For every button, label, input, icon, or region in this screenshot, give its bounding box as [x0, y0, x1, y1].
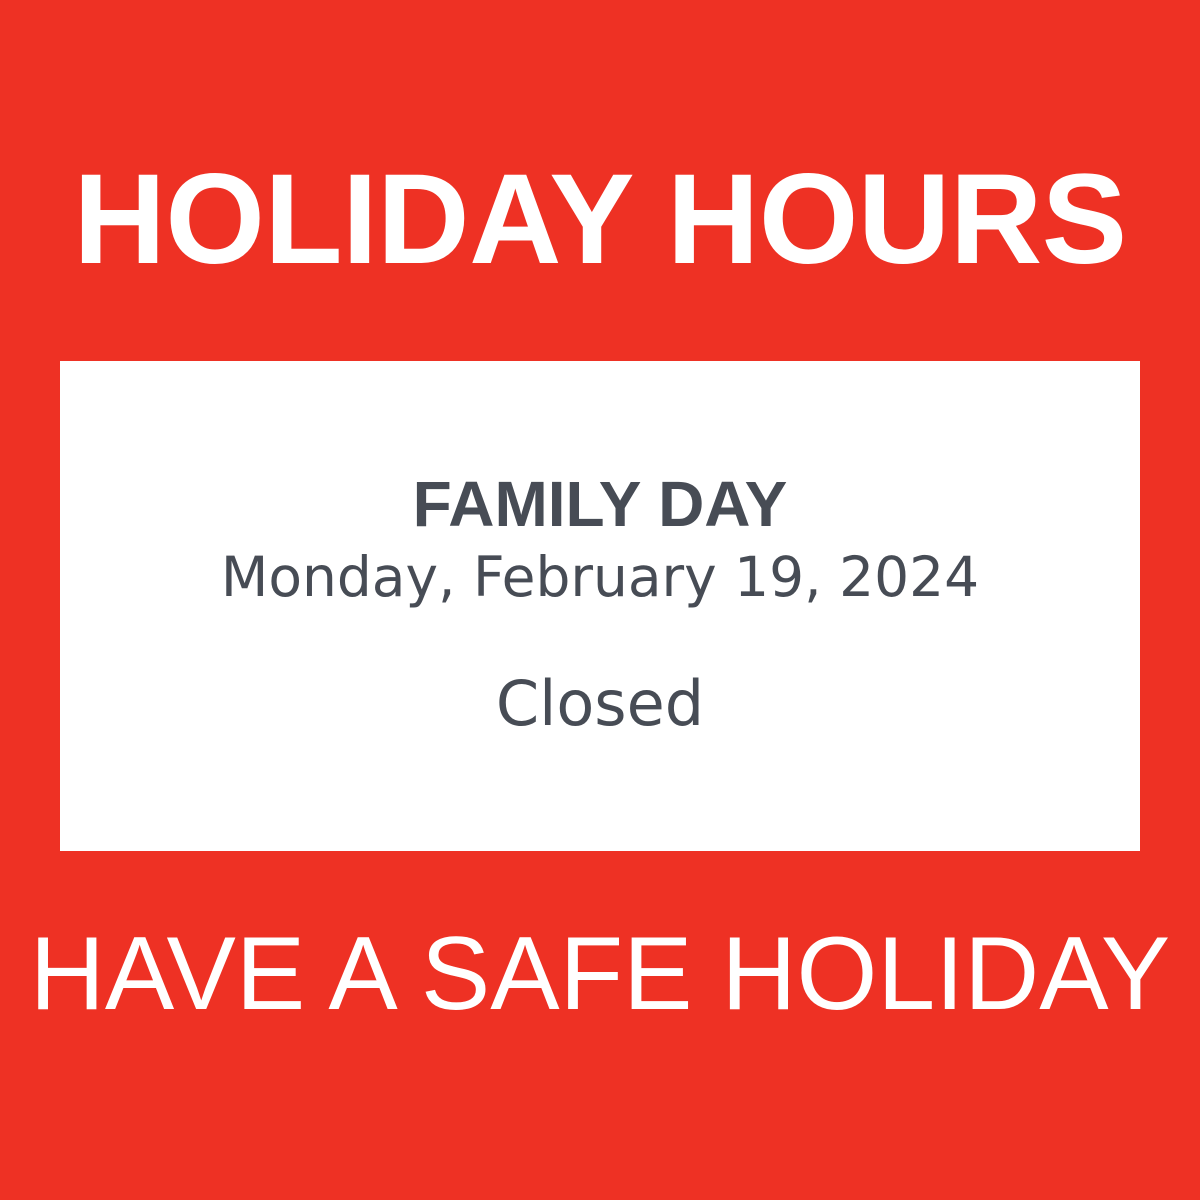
holiday-info-card-content: FAMILY DAY Monday, February 19, 2024 Clo… — [60, 470, 1140, 742]
holiday-date: Monday, February 19, 2024 — [60, 545, 1140, 610]
page-title: HOLIDAY HOURS — [0, 156, 1200, 284]
holiday-hours-notice: HOLIDAY HOURS FAMILY DAY Monday, Februar… — [0, 0, 1200, 1200]
holiday-name: FAMILY DAY — [60, 470, 1140, 539]
holiday-info-card: FAMILY DAY Monday, February 19, 2024 Clo… — [60, 361, 1140, 851]
footer-message: HAVE A SAFE HOLIDAY — [0, 922, 1200, 1026]
status-badge: Closed — [60, 670, 1140, 738]
